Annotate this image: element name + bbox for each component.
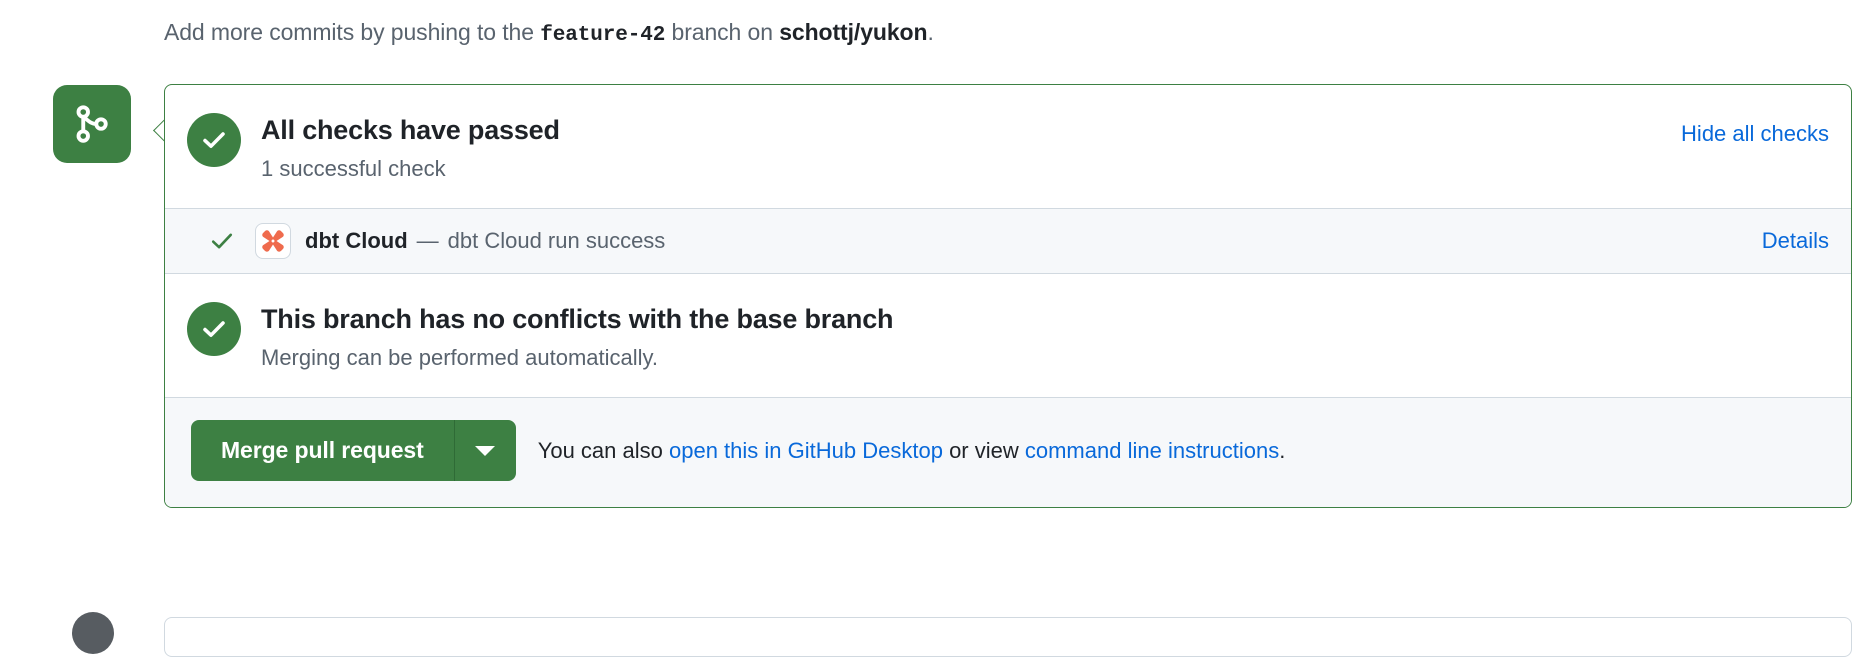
hide-all-checks-link[interactable]: Hide all checks	[1681, 119, 1829, 149]
merge-alternatives-note: You can also open this in GitHub Desktop…	[538, 436, 1286, 466]
next-comment-box	[164, 617, 1852, 657]
push-hint-suffix: .	[927, 19, 933, 45]
conflicts-subtitle: Merging can be performed automatically.	[261, 343, 1829, 373]
checks-summary-text: All checks have passed 1 successful chec…	[261, 111, 1657, 184]
conflicts-section: This branch has no conflicts with the ba…	[165, 274, 1851, 397]
merge-action-footer: Merge pull request You can also open thi…	[165, 397, 1851, 507]
checks-summary-subtitle: 1 successful check	[261, 154, 1657, 184]
checks-summary-title: All checks have passed	[261, 113, 1657, 147]
check-name: dbt Cloud	[305, 228, 408, 254]
git-merge-icon	[72, 104, 112, 144]
merge-pull-request-button[interactable]: Merge pull request	[191, 420, 454, 481]
chevron-down-icon	[475, 446, 495, 456]
check-details-link[interactable]: Details	[1762, 228, 1829, 254]
push-hint-middle: branch on	[672, 19, 773, 45]
dbt-cloud-logo-icon	[255, 223, 291, 259]
merge-button-group: Merge pull request	[191, 420, 516, 481]
open-in-github-desktop-link[interactable]: open this in GitHub Desktop	[669, 438, 943, 463]
check-separator: —	[417, 228, 439, 254]
callout-caret	[151, 118, 165, 144]
check-row[interactable]: dbt Cloud — dbt Cloud run success Detail…	[165, 208, 1851, 274]
merge-note-prefix: You can also	[538, 438, 663, 463]
check-circle-icon	[187, 302, 241, 356]
merge-note-middle: or view	[949, 438, 1019, 463]
push-hint-prefix: Add more commits by pushing to the	[164, 19, 534, 45]
check-icon	[205, 228, 239, 254]
merge-options-dropdown-button[interactable]	[454, 420, 516, 481]
conflicts-title: This branch has no conflicts with the ba…	[261, 302, 1829, 336]
check-circle-icon	[187, 113, 241, 167]
branch-name: feature-42	[540, 24, 665, 47]
merge-note-suffix: .	[1279, 438, 1285, 463]
push-more-commits-hint: Add more commits by pushing to the featu…	[164, 15, 934, 53]
command-line-instructions-link[interactable]: command line instructions	[1025, 438, 1279, 463]
git-merge-badge	[53, 85, 131, 163]
merge-status-panel: All checks have passed 1 successful chec…	[164, 84, 1852, 508]
repository-name: schottj/yukon	[779, 19, 927, 45]
avatar[interactable]	[72, 612, 114, 654]
conflicts-text: This branch has no conflicts with the ba…	[261, 300, 1829, 373]
checks-summary-section: All checks have passed 1 successful chec…	[165, 85, 1851, 208]
check-description: dbt Cloud run success	[448, 228, 666, 254]
